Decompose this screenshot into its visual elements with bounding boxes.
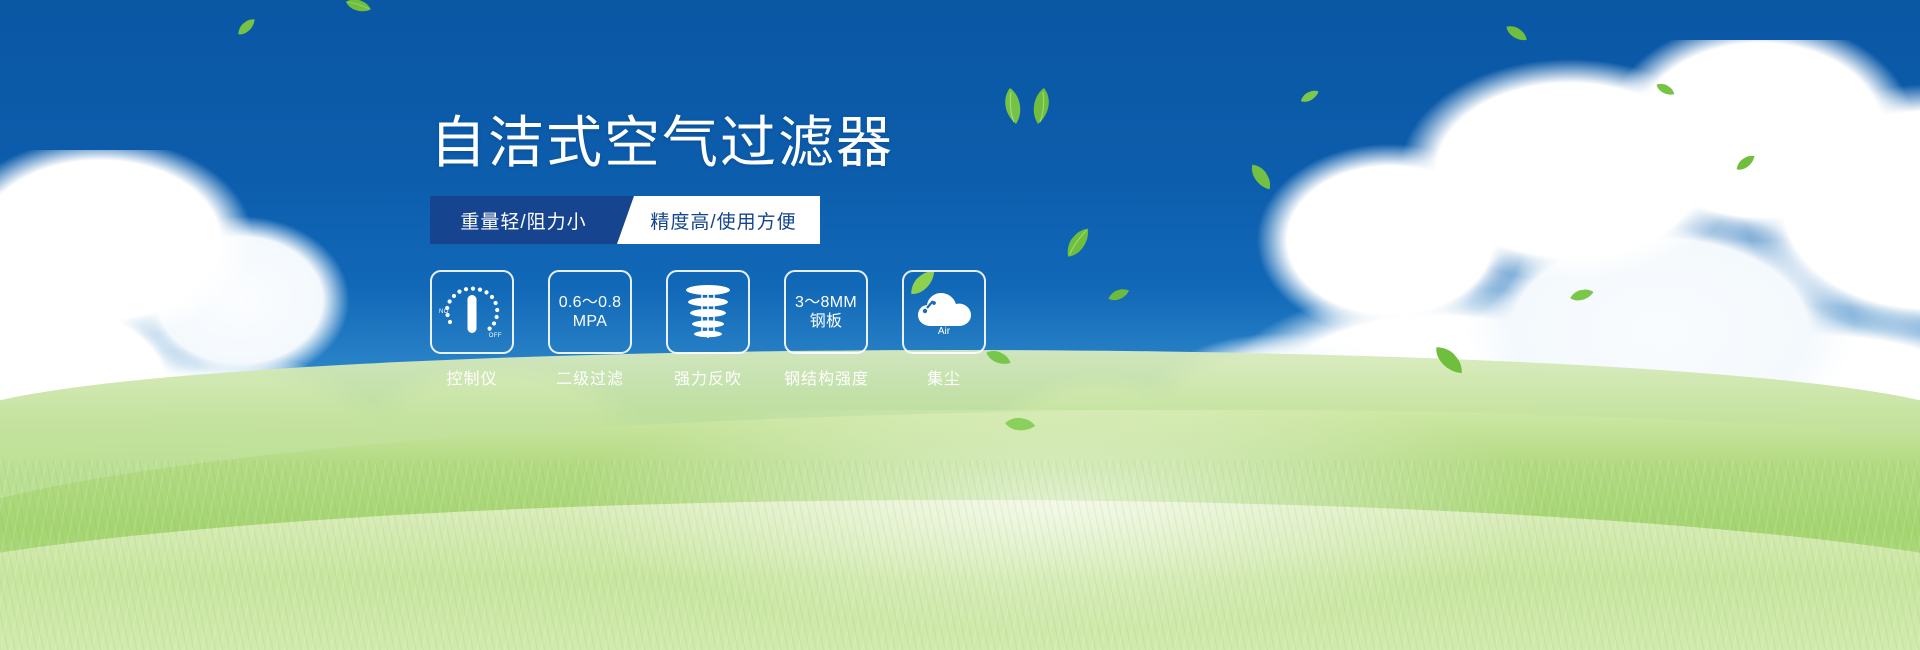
feature-caption: 二级过滤 — [548, 365, 632, 389]
page-title-text: 自洁式空气过滤器 — [430, 111, 894, 174]
filter-coil-icon — [680, 281, 736, 343]
title-leaf-pair-icon — [998, 74, 1056, 140]
promo-banner: 自洁式空气过滤器 重量轻/阻力小 精度高/使用方便 — [0, 0, 1920, 650]
feature-item-dust[interactable]: Air 集尘 — [902, 270, 986, 389]
gauge-needle-icon — [468, 295, 477, 333]
feature-icon-box — [666, 270, 750, 354]
feature-caption: 控制仪 — [430, 365, 514, 389]
pressure-icon: 0.6～0.8 MPA — [559, 293, 622, 332]
page-title: 自洁式空气过滤器 — [430, 110, 1050, 176]
leaf-icon — [343, 0, 372, 18]
tagline-right: 精度高/使用方便 — [617, 196, 820, 244]
feature-icon-row: NO OFF 控制仪 0.6～0.8 MPA 二级过滤 — [430, 270, 1050, 389]
steel-plate-icon: 3～8MM 钢板 — [795, 293, 857, 332]
feature-item-pressure[interactable]: 0.6～0.8 MPA 二级过滤 — [548, 270, 632, 389]
leaf-icon — [1061, 225, 1096, 262]
gauge-off-label: OFF — [489, 333, 502, 339]
air-label: Air — [938, 326, 951, 336]
gauge-icon: NO OFF — [440, 282, 504, 342]
feature-item-backflush[interactable]: 强力反吹 — [666, 270, 750, 389]
leaf-icon — [235, 17, 259, 39]
tagline-bar: 重量轻/阻力小 精度高/使用方便 — [430, 196, 820, 244]
tagline-left: 重量轻/阻力小 — [430, 196, 617, 244]
feature-icon-box: NO OFF — [430, 270, 514, 354]
air-cloud-icon: Air — [913, 288, 975, 336]
grass-texture — [0, 460, 1920, 650]
feature-item-controller[interactable]: NO OFF 控制仪 — [430, 270, 514, 389]
banner-content: 自洁式空气过滤器 重量轻/阻力小 精度高/使用方便 — [430, 110, 1050, 389]
feature-item-steel[interactable]: 3～8MM 钢板 钢结构强度 — [784, 270, 868, 389]
feature-icon-box: 0.6～0.8 MPA — [548, 270, 632, 354]
feature-icon-box: 3～8MM 钢板 — [784, 270, 868, 354]
feature-caption: 强力反吹 — [666, 365, 750, 389]
feature-caption: 集尘 — [902, 365, 986, 389]
gauge-on-label: NO — [439, 309, 449, 315]
feature-caption: 钢结构强度 — [784, 365, 868, 389]
feature-icon-box: Air — [902, 270, 986, 354]
